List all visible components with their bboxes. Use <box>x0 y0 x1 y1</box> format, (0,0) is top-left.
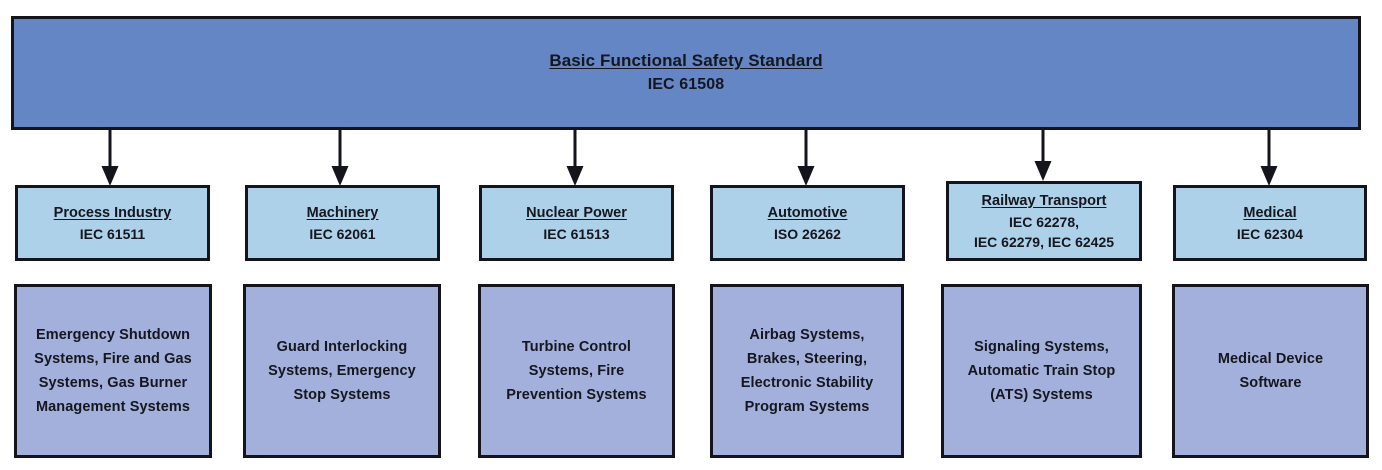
application-list: Airbag Systems, Brakes, Steering, Electr… <box>741 323 874 419</box>
sector-box-automotive[interactable]: Automotive ISO 26262 <box>710 185 905 261</box>
sector-standard: IEC 62279, IEC 62425 <box>974 232 1114 252</box>
application-box-nuclear-power[interactable]: Turbine Control Systems, Fire Prevention… <box>478 284 675 458</box>
application-line: Systems, Fire and Gas <box>34 351 192 367</box>
application-line: Guard Interlocking <box>277 339 408 355</box>
application-line: Software <box>1239 375 1301 391</box>
sector-standard: ISO 26262 <box>774 224 841 244</box>
application-box-automotive[interactable]: Airbag Systems, Brakes, Steering, Electr… <box>710 284 904 458</box>
application-line: Brakes, Steering, <box>747 351 867 367</box>
application-box-railway-transport[interactable]: Signaling Systems, Automatic Train Stop … <box>941 284 1142 458</box>
arrow-down-icon <box>796 130 816 186</box>
root-standard-box: Basic Functional Safety Standard IEC 615… <box>11 16 1361 130</box>
application-line: (ATS) Systems <box>990 387 1093 403</box>
application-line: Turbine Control <box>522 339 631 355</box>
application-line: Management Systems <box>36 399 190 415</box>
application-box-machinery[interactable]: Guard Interlocking Systems, Emergency St… <box>243 284 441 458</box>
root-standard-title: Basic Functional Safety Standard <box>549 49 822 73</box>
application-line: Systems, Emergency <box>268 363 416 379</box>
sector-box-process-industry[interactable]: Process Industry IEC 61511 <box>15 185 210 261</box>
sector-title: Railway Transport <box>982 191 1107 212</box>
sector-title: Process Industry <box>54 203 172 224</box>
sector-title: Medical <box>1243 203 1296 224</box>
application-list: Signaling Systems, Automatic Train Stop … <box>968 335 1116 407</box>
application-line: Systems, Fire <box>529 363 625 379</box>
sector-standard: IEC 61511 <box>80 224 145 244</box>
application-line: Emergency Shutdown <box>36 327 190 343</box>
arrow-down-icon <box>100 130 120 186</box>
application-line: Stop Systems <box>293 387 390 403</box>
arrow-down-icon <box>1259 130 1279 186</box>
sector-box-machinery[interactable]: Machinery IEC 62061 <box>245 185 440 261</box>
arrow-down-icon <box>1033 130 1053 181</box>
application-line: Medical Device <box>1218 351 1323 367</box>
safety-standards-diagram: Basic Functional Safety Standard IEC 615… <box>0 0 1382 470</box>
application-line: Automatic Train Stop <box>968 363 1116 379</box>
application-list: Turbine Control Systems, Fire Prevention… <box>506 335 646 407</box>
arrow-down-icon <box>330 130 350 186</box>
sector-box-medical[interactable]: Medical IEC 62304 <box>1173 185 1367 261</box>
application-box-medical[interactable]: Medical Device Software <box>1172 284 1369 458</box>
application-box-process-industry[interactable]: Emergency Shutdown Systems, Fire and Gas… <box>14 284 212 458</box>
application-list: Emergency Shutdown Systems, Fire and Gas… <box>34 323 192 419</box>
application-line: Signaling Systems, <box>974 339 1109 355</box>
application-line: Airbag Systems, <box>749 327 864 343</box>
application-line: Program Systems <box>745 399 870 415</box>
sector-title: Automotive <box>768 203 848 224</box>
sector-standard: IEC 62061 <box>309 224 375 244</box>
application-list: Medical Device Software <box>1218 347 1323 395</box>
sector-standard: IEC 62304 <box>1237 224 1303 244</box>
sector-box-railway-transport[interactable]: Railway Transport IEC 62278, IEC 62279, … <box>946 181 1142 261</box>
sector-box-nuclear-power[interactable]: Nuclear Power IEC 61513 <box>479 185 674 261</box>
sector-standard: IEC 61513 <box>543 224 609 244</box>
root-standard-number: IEC 61508 <box>648 73 725 97</box>
arrow-down-icon <box>565 130 585 186</box>
sector-title: Machinery <box>307 203 379 224</box>
application-line: Prevention Systems <box>506 387 646 403</box>
sector-title: Nuclear Power <box>526 203 627 224</box>
application-list: Guard Interlocking Systems, Emergency St… <box>268 335 416 407</box>
application-line: Electronic Stability <box>741 375 874 391</box>
application-line: Systems, Gas Burner <box>39 375 188 391</box>
sector-standard: IEC 62278, <box>1009 212 1079 232</box>
